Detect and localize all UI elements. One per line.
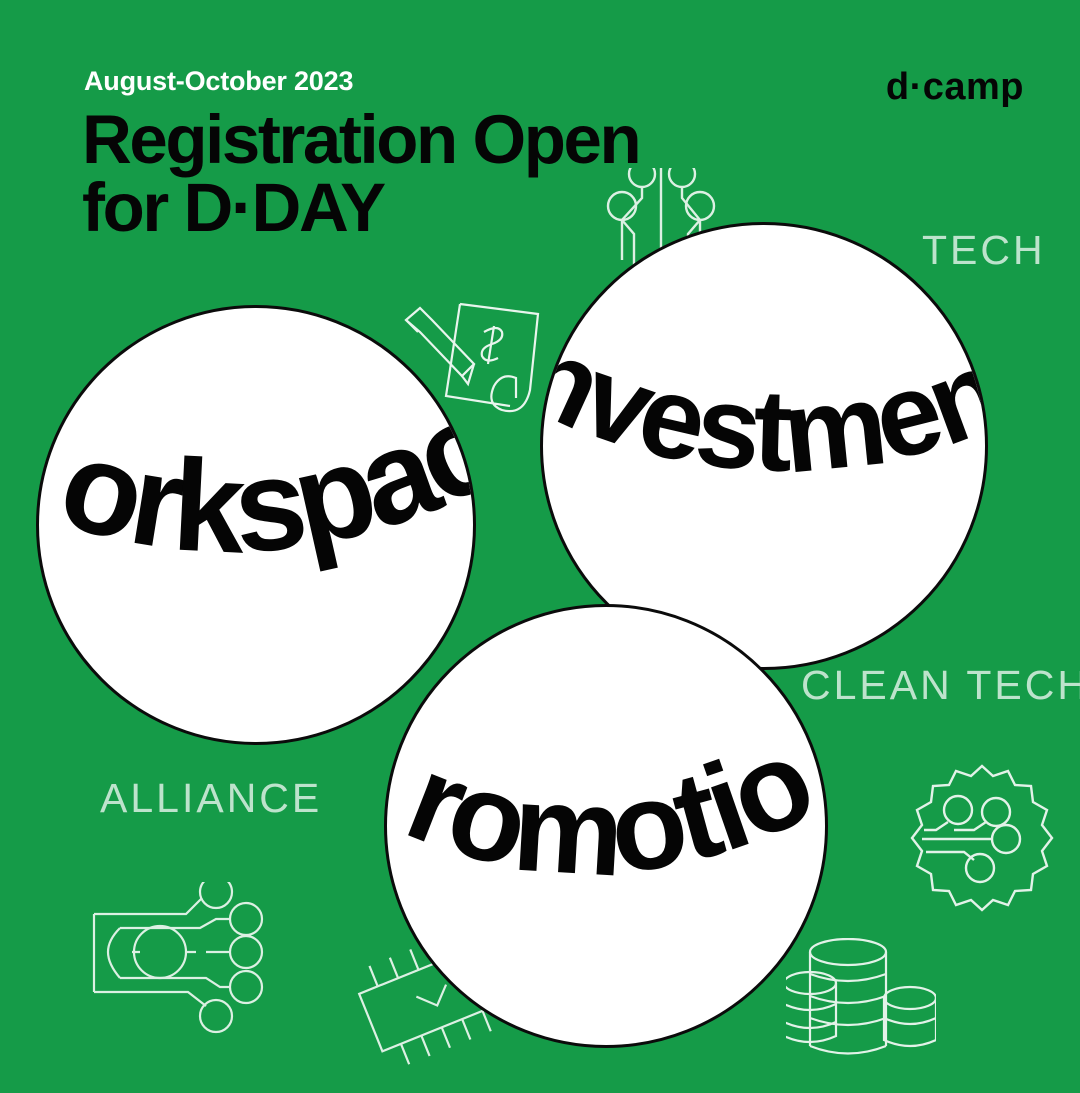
bubble-promotion-warp: Promotion bbox=[387, 607, 825, 1045]
svg-text:Workspace: Workspace bbox=[39, 308, 473, 581]
gear-circuit-icon bbox=[896, 762, 1068, 924]
bubble-workspace-label: Workspace bbox=[39, 308, 473, 581]
dcamp-logo[interactable]: d·camp bbox=[886, 66, 1024, 109]
svg-text:Promotion: Promotion bbox=[387, 607, 825, 903]
svg-text:Investment: Investment bbox=[543, 225, 985, 498]
poster-canvas: Workspace Investment Promotion TECH CLEA… bbox=[0, 0, 1080, 1080]
bubble-promotion[interactable]: Promotion bbox=[384, 604, 828, 1048]
bubble-investment[interactable]: Investment bbox=[540, 222, 988, 670]
network-node-icon bbox=[76, 882, 286, 1057]
bubble-investment-warp: Investment bbox=[543, 225, 985, 667]
bubble-investment-label: Investment bbox=[543, 225, 985, 498]
date-range-eyebrow: August-October 2023 bbox=[84, 66, 353, 97]
tag-alliance: ALLIANCE bbox=[100, 775, 322, 822]
bubble-promotion-label: Promotion bbox=[387, 607, 825, 903]
tag-clean-tech: CLEAN TECH bbox=[801, 662, 1080, 709]
page-title: Registration Open for D·DAY bbox=[82, 106, 639, 243]
